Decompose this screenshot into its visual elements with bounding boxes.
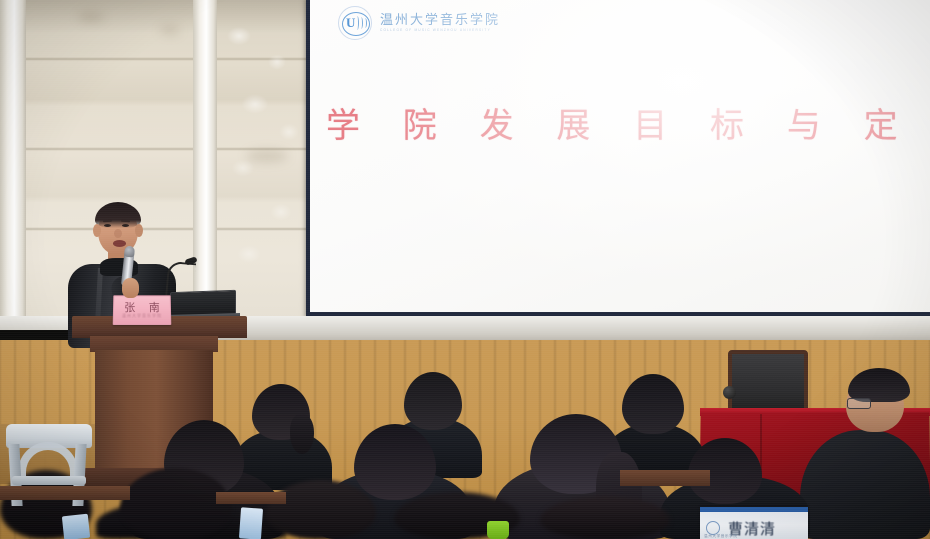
speaker-ear-right (135, 224, 143, 237)
audience-desk (0, 486, 130, 500)
logo-institution-en: COLLEGE OF MUSIC WENZHOU UNIVERSITY (380, 29, 500, 32)
nameplate-emblem-icon (706, 521, 720, 535)
screen-glare (310, 0, 930, 312)
wall-pillar-left (0, 0, 26, 330)
attendee-ponytail (290, 414, 314, 454)
speaker-hair (95, 202, 141, 228)
speaker-nose (114, 229, 122, 238)
wall-stain (78, 12, 104, 22)
head-table-chair (728, 350, 808, 412)
head-table-nameplate: 曹清清 温州大学音乐学院 (700, 507, 808, 539)
speaker-hand (122, 278, 139, 298)
phone-screen[interactable] (62, 514, 90, 539)
speaker-nameplate-subtitle: 温州大学音乐学院 (114, 313, 170, 319)
logo-letter-u: U (346, 15, 355, 31)
logo-soundwave-icon (356, 16, 367, 31)
slide-headline: 学 院 发 展 目 标 与 定 位 (310, 98, 930, 147)
lecture-hall-photo: U 温州大学音乐学院 COLLEGE OF MUSIC WENZHOU UNIV… (0, 0, 930, 539)
wall-stain (160, 26, 180, 35)
attendee-head (266, 480, 376, 539)
speaker-nameplate: 张 南 温州大学音乐学院 (113, 295, 172, 325)
phone-screen[interactable] (239, 507, 263, 539)
logo-wordmark: 温州大学音乐学院 COLLEGE OF MUSIC WENZHOU UNIVER… (380, 14, 500, 32)
attendee-head (540, 496, 670, 539)
logo-institution-cn: 温州大学音乐学院 (380, 14, 500, 27)
speaker-mouth (113, 240, 126, 247)
projection-screen[interactable]: U 温州大学音乐学院 COLLEGE OF MUSIC WENZHOU UNIV… (310, 0, 930, 312)
green-cup (487, 521, 509, 539)
university-emblem-icon: U (338, 6, 372, 40)
slide-logo: U 温州大学音乐学院 COLLEGE OF MUSIC WENZHOU UNIV… (338, 6, 500, 40)
audience-desk (620, 470, 710, 486)
attendee-head (622, 374, 684, 434)
stool-rail (12, 476, 86, 485)
wall-floral-pattern (215, 0, 312, 322)
speaker-ear-left (93, 224, 101, 237)
speaker-eye-right (122, 224, 129, 227)
speaker-eye-left (104, 224, 111, 227)
eyeglasses-icon (847, 398, 871, 409)
desk-microphone-icon (723, 386, 736, 399)
head-table-nameplate-subtitle: 温州大学音乐学院 (704, 534, 738, 539)
audience-desk (216, 492, 286, 504)
attendee-head (404, 372, 462, 430)
